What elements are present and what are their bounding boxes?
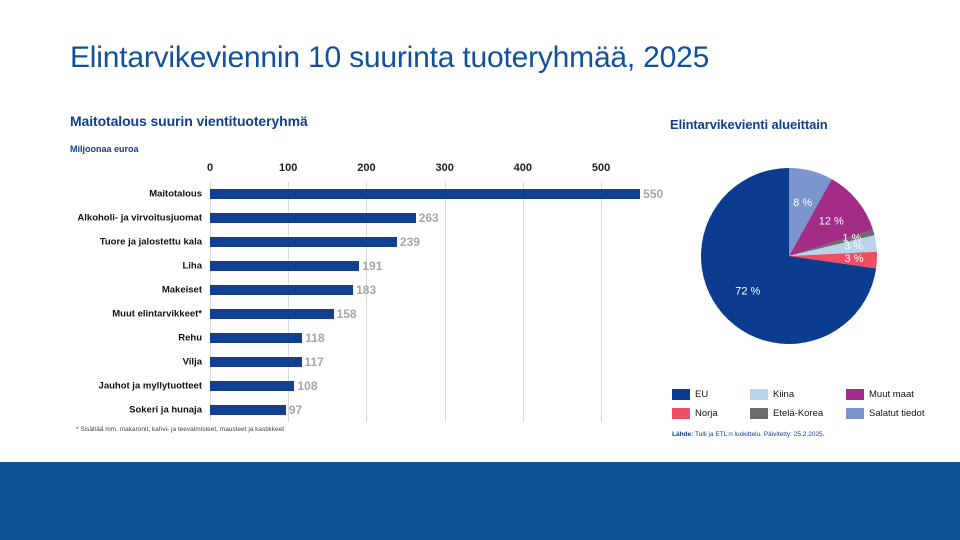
bar-category-label: Makeiset: [162, 285, 202, 296]
pie-legend: EUKiinaMuut maatNorjaEtelä-KoreaSalatut …: [672, 385, 922, 423]
bar-category-label: Muut elintarvikkeet*: [112, 309, 202, 320]
x-axis-tick-label: 300: [435, 162, 453, 174]
bar-plot-area: 0100200300400500Maitotalous550Alkoholi- …: [210, 182, 648, 422]
bar-value-label: 118: [302, 331, 324, 345]
bar-category-label: Alkoholi- ja virvoitusjuomat: [77, 213, 202, 224]
pie-chart-title: Elintarvikevienti alueittain: [670, 117, 828, 132]
bar-rect[interactable]: [210, 333, 302, 343]
bar-rect[interactable]: [210, 213, 416, 223]
bar-row: Maitotalous550: [210, 182, 648, 206]
source-note: Lähde: Tulli ja ETL:n luokittelu. Päivit…: [672, 431, 824, 438]
source-label: Lähde:: [672, 431, 693, 438]
bar-row: Vilja117: [210, 350, 648, 374]
bar-row: Jauhot ja myllytuotteet108: [210, 374, 648, 398]
pie-chart: 8 %12 %1 %3 %3 %72 %: [689, 164, 889, 356]
bar-category-label: Vilja: [183, 357, 202, 368]
legend-label: Etelä-Korea: [773, 408, 823, 419]
legend-item[interactable]: Kiina: [750, 389, 846, 400]
legend-swatch: [846, 408, 864, 419]
bar-chart-footnote: * Sisältää mm. makaronit, kahvi- ja teev…: [76, 426, 284, 433]
bar-value-label: 550: [640, 187, 663, 201]
bar-category-label: Jauhot ja myllytuotteet: [99, 381, 202, 392]
bar-value-label: 191: [359, 259, 382, 273]
bar-row: Sokeri ja hunaja97: [210, 398, 648, 422]
x-axis-tick-label: 400: [514, 162, 532, 174]
slide-root: Elintarvikeviennin 10 suurinta tuoteryhm…: [0, 0, 960, 540]
page-title: Elintarvikeviennin 10 suurinta tuoteryhm…: [70, 38, 890, 78]
legend-item[interactable]: Norja: [672, 408, 750, 419]
bar-rect[interactable]: [210, 357, 302, 367]
bar-rect[interactable]: [210, 309, 334, 319]
legend-label: EU: [695, 389, 708, 400]
x-axis-tick-label: 200: [357, 162, 375, 174]
legend-item[interactable]: Muut maat: [846, 389, 924, 400]
pie-slice-percent-label: 8 %: [793, 197, 812, 209]
pie-slice-percent-label: 12 %: [819, 216, 844, 228]
bar-value-label: 108: [294, 379, 317, 393]
bar-rect[interactable]: [210, 285, 353, 295]
axis-unit-label: Miljoonaa euroa: [70, 144, 139, 154]
bar-row: Muut elintarvikkeet*158: [210, 302, 648, 326]
legend-swatch: [750, 389, 768, 400]
pie-slice-percent-label: 3 %: [845, 253, 864, 265]
legend-label: Norja: [695, 408, 718, 419]
legend-swatch: [672, 389, 690, 400]
legend-swatch: [846, 389, 864, 400]
bar-value-label: 117: [302, 355, 324, 369]
source-value: Tulli ja ETL:n luokittelu. Päivitetty: 2…: [695, 431, 824, 438]
bar-rect[interactable]: [210, 381, 294, 391]
pie-slice-percent-label: 3 %: [844, 241, 863, 253]
legend-label: Kiina: [773, 389, 794, 400]
bar-rect[interactable]: [210, 189, 640, 199]
bar-category-label: Maitotalous: [149, 189, 202, 200]
chart-subtitle: Maitotalous suurin vientituoteryhmä: [70, 113, 308, 129]
x-axis-tick-label: 500: [592, 162, 610, 174]
bar-chart: 0100200300400500Maitotalous550Alkoholi- …: [68, 160, 648, 422]
bar-category-label: Liha: [182, 261, 202, 272]
bar-value-label: 97: [286, 403, 302, 417]
legend-swatch: [672, 408, 690, 419]
legend-swatch: [750, 408, 768, 419]
bar-rect[interactable]: [210, 405, 286, 415]
bar-value-label: 183: [353, 283, 376, 297]
bar-row: Alkoholi- ja virvoitusjuomat263: [210, 206, 648, 230]
bar-category-label: Rehu: [178, 333, 202, 344]
legend-label: Salatut tiedot: [869, 408, 924, 419]
pie-slice-percent-label: 72 %: [735, 286, 760, 298]
legend-label: Muut maat: [869, 389, 914, 400]
bar-row: Tuore ja jalostettu kala239: [210, 230, 648, 254]
legend-item[interactable]: EU: [672, 389, 750, 400]
bar-row: Rehu118: [210, 326, 648, 350]
bar-row: Makeiset183: [210, 278, 648, 302]
bar-category-label: Sokeri ja hunaja: [129, 405, 202, 416]
footer-band: ETL: [0, 462, 960, 540]
bar-rect[interactable]: [210, 261, 359, 271]
legend-item[interactable]: Etelä-Korea: [750, 408, 846, 419]
bar-value-label: 263: [416, 211, 439, 225]
bar-value-label: 158: [334, 307, 357, 321]
bar-rect[interactable]: [210, 237, 397, 247]
legend-item[interactable]: Salatut tiedot: [846, 408, 924, 419]
pie-svg: 8 %12 %1 %3 %3 %72 %: [689, 164, 889, 356]
x-axis-tick-label: 0: [207, 162, 213, 174]
bar-value-label: 239: [397, 235, 420, 249]
x-axis-tick-label: 100: [279, 162, 297, 174]
bar-row: Liha191: [210, 254, 648, 278]
bar-category-label: Tuore ja jalostettu kala: [100, 237, 202, 248]
